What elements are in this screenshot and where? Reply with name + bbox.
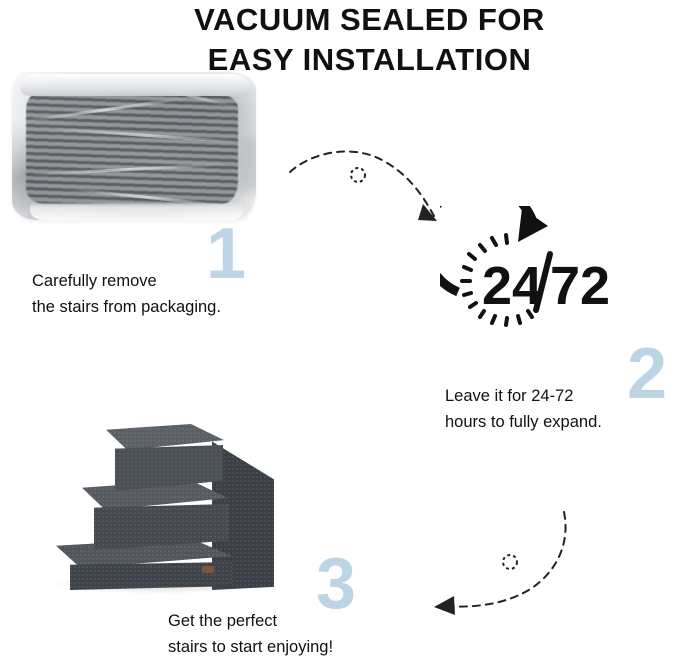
step-3-caption: Get the perfect stairs to start enjoying… — [168, 608, 368, 660]
brand-logo-tag — [202, 566, 214, 573]
stairs-step-2-front — [94, 504, 228, 550]
clock-top-value: 24 — [482, 256, 542, 316]
step-3-caption-line-2: stairs to start enjoying! — [168, 634, 368, 660]
stairs-step-1-front — [115, 445, 223, 491]
step-2-caption: Leave it for 24-72 hours to fully expand… — [445, 383, 602, 435]
foam-pet-stairs-photo — [52, 424, 276, 590]
plastic-bag — [12, 72, 256, 220]
bag-top-seal — [20, 74, 250, 96]
step-number-2: 2 — [627, 338, 667, 410]
dashed-arrow-step2-to-step3 — [424, 508, 584, 618]
step-1-caption: Carefully remove the stairs from packagi… — [32, 268, 221, 320]
compressed-foam-stack — [26, 94, 238, 204]
step-1-caption-line-2: the stairs from packaging. — [32, 294, 221, 320]
step-2-caption-line-1: Leave it for 24-72 — [445, 383, 602, 409]
step-3-caption-line-1: Get the perfect — [168, 608, 368, 634]
clock-24-72-icon: 24 72 — [440, 206, 630, 356]
vacuum-sealed-package-photo — [10, 58, 258, 230]
step-1-caption-line-1: Carefully remove — [32, 268, 221, 294]
step-2-caption-line-2: hours to fully expand. — [445, 409, 602, 435]
clock-bottom-value: 72 — [550, 256, 610, 316]
dashed-arrow-step1-to-step2 — [286, 146, 456, 226]
page-title-line-1: VACUUM SEALED FOR — [0, 0, 679, 40]
